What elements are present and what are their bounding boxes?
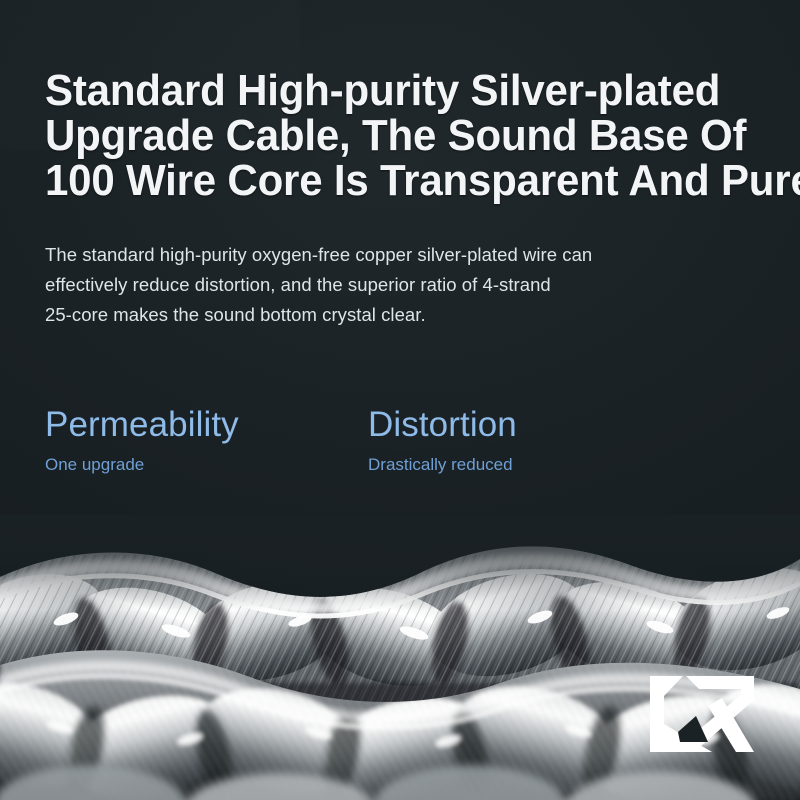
feature-distortion-title: Distortion	[368, 405, 691, 445]
description-paragraph: The standard high-purity oxygen-free cop…	[45, 203, 795, 330]
feature-distortion: Distortion Drastically reduced	[368, 405, 691, 476]
product-feature-poster: Standard High-purity Silver-plated Upgra…	[0, 0, 800, 800]
feature-highlights: Permeability One upgrade Distortion Dras…	[45, 405, 745, 476]
headline-line-3: 100 Wire Core Is Transparent And Pure	[45, 158, 761, 203]
braided-silver-plated-cable-photo	[0, 515, 800, 800]
headline-line-1: Standard High-purity Silver-plated	[45, 68, 761, 113]
description-line-2: effectively reduce distortion, and the s…	[45, 270, 795, 300]
headline-line-2: Upgrade Cable, The Sound Base Of	[45, 113, 761, 158]
kz-logo	[650, 676, 754, 752]
description-line-3: 25-core makes the sound bottom crystal c…	[45, 300, 795, 330]
copy-block: Standard High-purity Silver-plated Upgra…	[45, 0, 795, 330]
page-title: Standard High-purity Silver-plated Upgra…	[45, 0, 761, 203]
feature-permeability-subtitle: One upgrade	[45, 445, 368, 476]
feature-permeability-title: Permeability	[45, 405, 368, 445]
kz-logo-icon	[650, 676, 754, 752]
description-line-1: The standard high-purity oxygen-free cop…	[45, 240, 795, 270]
feature-distortion-subtitle: Drastically reduced	[368, 445, 691, 476]
feature-permeability: Permeability One upgrade	[45, 405, 368, 476]
